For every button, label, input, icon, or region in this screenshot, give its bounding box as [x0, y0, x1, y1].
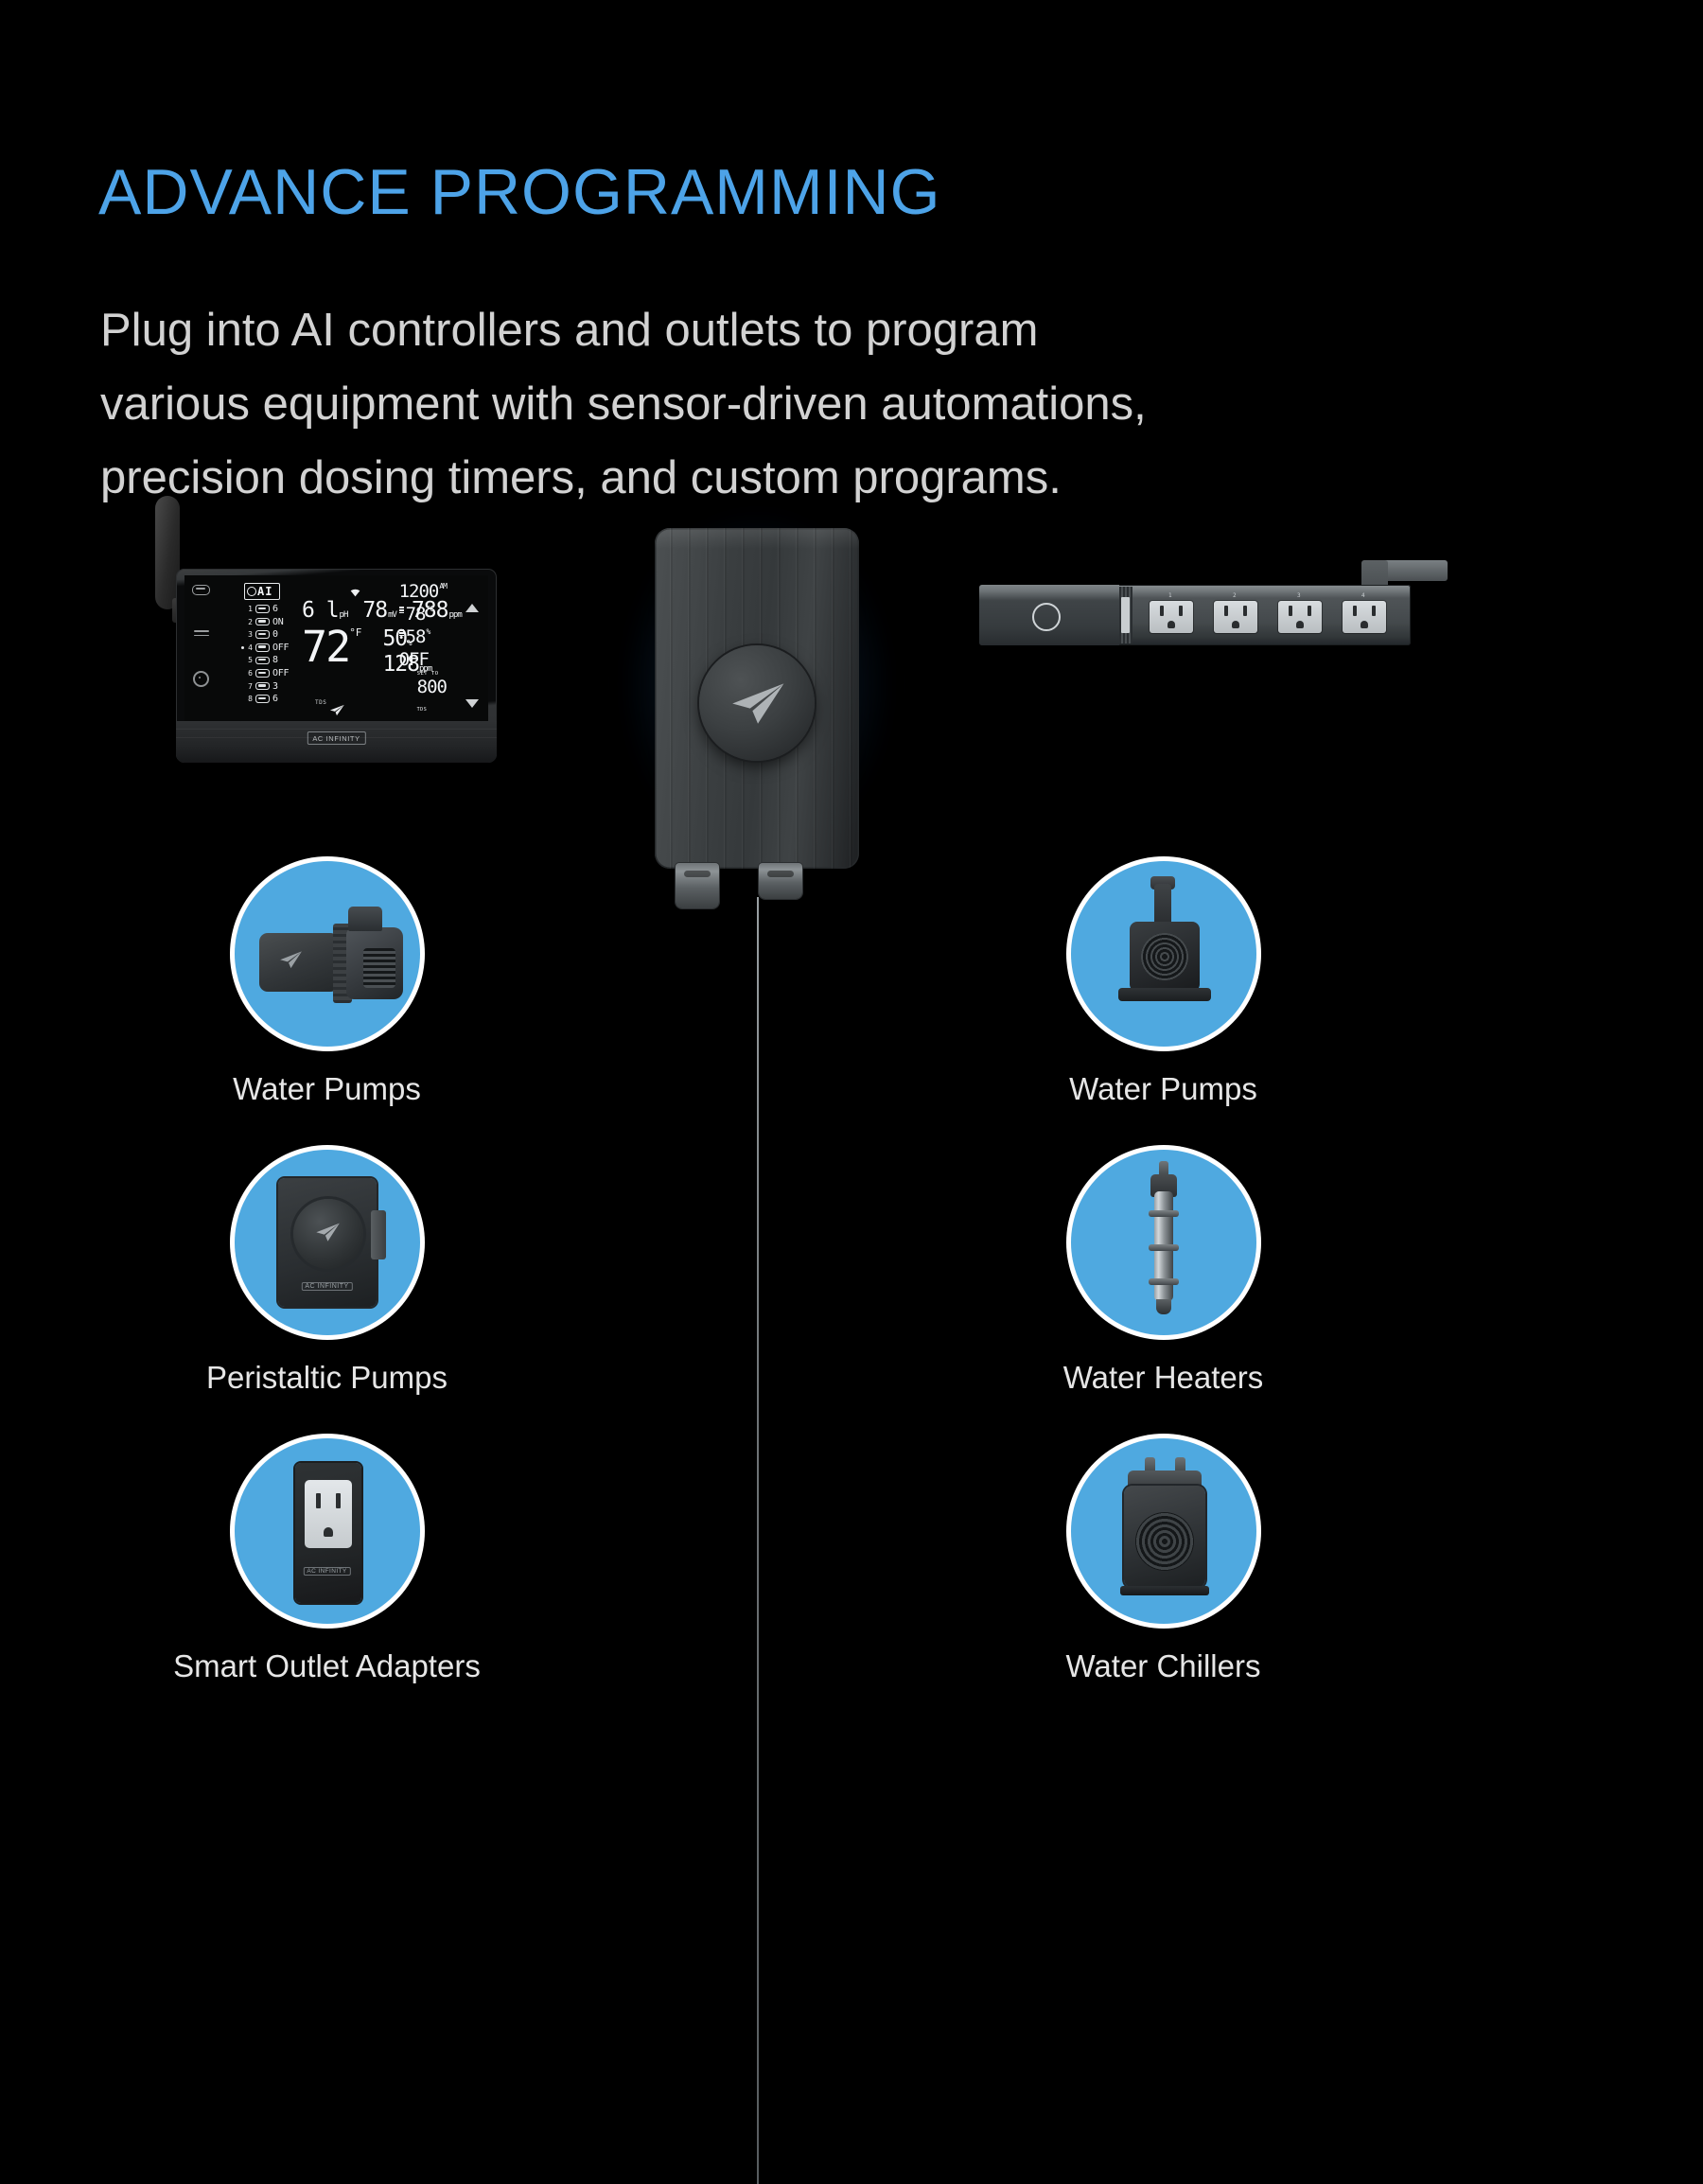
ph-readout: 6 lpH: [302, 600, 347, 622]
ai-controller-device: AI 1 6 2: [176, 569, 497, 763]
icon-circle: AC INFINITY: [235, 1438, 420, 1624]
port-number: 7: [246, 682, 253, 691]
smart-power-strip-device: 1 2 3 4: [979, 560, 1448, 676]
outlet-number: 2: [1233, 592, 1237, 599]
gear-icon[interactable]: [193, 671, 209, 687]
port-value: 0: [272, 629, 278, 640]
icon-circle: [1071, 1438, 1256, 1624]
port-selected-dot: [241, 608, 244, 610]
port-selected-dot: [241, 621, 244, 624]
port-selected-dot: [241, 685, 244, 688]
clock-readout: 1200AM: [399, 583, 447, 601]
device-item-smart-outlet-adapters: AC INFINITY Smart Outlet Adapters: [140, 1438, 514, 1727]
icon-circle: [235, 861, 420, 1047]
bars-icon: [399, 606, 404, 615]
controller-lower-bezel: AC INFINITY: [176, 721, 497, 763]
controller-body: AI 1 6 2: [176, 569, 497, 763]
description-line-1: Plug into AI controllers and outlets to …: [100, 293, 1444, 367]
port-number: 5: [246, 656, 253, 664]
device-item-water-pumps-inline: Water Pumps: [140, 861, 514, 1150]
ai-mode-badge: AI: [244, 583, 280, 600]
device-label: Peristaltic Pumps: [140, 1360, 514, 1396]
device-label: Water Pumps: [976, 1071, 1350, 1107]
brand-logo-badge: AC INFINITY: [303, 1567, 350, 1576]
port-number: 6: [246, 669, 253, 678]
inline-water-pump-icon: [235, 861, 420, 1047]
plug-icon: [255, 630, 270, 639]
device-item-peristaltic-pumps: AC INFINITY Peristaltic Pumps: [140, 1150, 514, 1438]
brand-logo-badge: AC INFINITY: [307, 731, 365, 745]
set-to-unit: TDS: [417, 707, 428, 713]
outlet-number: 4: [1361, 592, 1365, 599]
port-selected-dot: [241, 646, 244, 649]
lcd-bottom-strip: TDS SET TO 800 TDS: [184, 691, 488, 719]
port-number: 4: [246, 643, 253, 652]
water-chiller-icon: [1071, 1438, 1256, 1624]
brand-logo-badge: AC INFINITY: [301, 1282, 352, 1291]
ec-unit: ppm: [448, 610, 461, 620]
device-label: Smart Outlet Adapters: [140, 1648, 514, 1684]
plug-icon: [255, 643, 270, 652]
plug-icon: [255, 669, 270, 678]
device-item-water-heaters: Water Heaters: [976, 1150, 1350, 1438]
orp-readout: 78mV: [362, 600, 396, 622]
setpoint-humidity: 58%: [399, 628, 430, 646]
outlet-number: 3: [1297, 592, 1301, 599]
port-row: 3 0: [241, 629, 289, 640]
port-row: 6 OFF: [241, 668, 289, 678]
port-row: 4 OFF: [241, 643, 289, 653]
icon-circle: [1071, 1150, 1256, 1335]
water-heater-icon: [1071, 1150, 1256, 1335]
controller-side-buttons: [192, 585, 210, 687]
adapter-output-ports: [668, 863, 812, 918]
power-button-icon[interactable]: [1032, 603, 1061, 631]
outlet-1[interactable]: [1150, 601, 1193, 633]
wifi-icon: [348, 585, 362, 595]
port-value: 3: [272, 681, 278, 692]
ac-infinity-plane-icon: [328, 704, 344, 716]
port-selected-dot: [241, 672, 244, 675]
device-label: Water Pumps: [140, 1071, 514, 1107]
menu-icon[interactable]: [194, 627, 209, 639]
submersible-water-pump-icon: [1071, 861, 1256, 1047]
outlet-number: 1: [1168, 592, 1172, 599]
device-label: Water Chillers: [976, 1648, 1350, 1684]
port-status-list: 1 6 2 ON 3 0: [241, 604, 289, 704]
tds-label: TDS: [315, 699, 326, 706]
setpoint-temp-unit: °C: [426, 606, 433, 613]
triangle-up-icon[interactable]: [465, 604, 479, 612]
infographic-page: ADVANCE PROGRAMMING Plug into AI control…: [0, 0, 1703, 1703]
adapter-port-2: [759, 863, 802, 899]
outlet-3[interactable]: [1278, 601, 1322, 633]
adapter-port-1: [676, 863, 719, 908]
set-to-value: 800: [417, 677, 447, 697]
strip-label-plate: [1121, 597, 1130, 633]
smart-outlet-adapter-icon: AC INFINITY: [235, 1438, 420, 1624]
page-title: ADVANCE PROGRAMMING: [98, 155, 940, 229]
port-row: 2 ON: [241, 617, 289, 627]
port-value: 6: [272, 604, 278, 614]
peristaltic-pump-icon: AC INFINITY: [235, 1150, 420, 1335]
orp-unit: mV: [388, 610, 396, 620]
description-line-2: various equipment with sensor-driven aut…: [100, 367, 1444, 441]
plug-icon: [255, 605, 270, 613]
ac-infinity-plane-logo-icon: [728, 680, 786, 726]
port-value: OFF: [272, 643, 289, 653]
plug-icon: [255, 618, 270, 626]
device-item-water-pumps-submersible: Water Pumps: [976, 861, 1350, 1150]
left-device-column: Water Pumps AC INFINITY Peristaltic Pump…: [140, 861, 514, 1727]
port-number: 2: [246, 618, 253, 626]
ph-unit: pH: [340, 610, 348, 620]
lcd-right-column: 1200AM 78°C 58% OFF: [399, 583, 447, 669]
port-value: ON: [272, 617, 283, 627]
power-pill-icon[interactable]: [192, 585, 210, 595]
right-device-column: Water Pumps Water Heaters: [976, 861, 1350, 1727]
dosing-adapter-device: [636, 502, 878, 918]
strip-body: 1 2 3 4: [979, 585, 1411, 645]
temperature-unit: °F: [349, 626, 361, 639]
port-selected-dot: [241, 659, 244, 661]
plug-icon: [255, 682, 270, 691]
setpoint-temperature: 78°C: [399, 606, 434, 624]
device-label: Water Heaters: [976, 1360, 1350, 1396]
controller-lcd-screen: AI 1 6 2: [184, 575, 488, 721]
device-item-water-chillers: Water Chillers: [976, 1438, 1350, 1727]
bars-icon: [399, 628, 404, 638]
port-row: 5 8: [241, 655, 289, 665]
port-value: 8: [272, 655, 278, 665]
outlet-4[interactable]: [1343, 601, 1386, 633]
outlet-2[interactable]: [1214, 601, 1257, 633]
port-number: 3: [246, 630, 253, 639]
icon-circle: [1071, 861, 1256, 1047]
clock-meridiem: AM: [439, 583, 447, 590]
port-number: 1: [246, 605, 253, 613]
port-row: 1 6: [241, 604, 289, 614]
plug-icon: [255, 657, 270, 665]
setpoint-hum-unit: %: [426, 628, 430, 636]
adapter-cable: [757, 897, 759, 2184]
icon-circle: AC INFINITY: [235, 1150, 420, 1335]
port-row: 7 3: [241, 681, 289, 692]
temperature-readout: 72°F: [302, 628, 361, 667]
set-to-readout: SET TO 800 TDS: [417, 660, 447, 714]
port-selected-dot: [241, 633, 244, 636]
adapter-logo-dial: [699, 645, 815, 761]
port-value: OFF: [272, 668, 289, 678]
